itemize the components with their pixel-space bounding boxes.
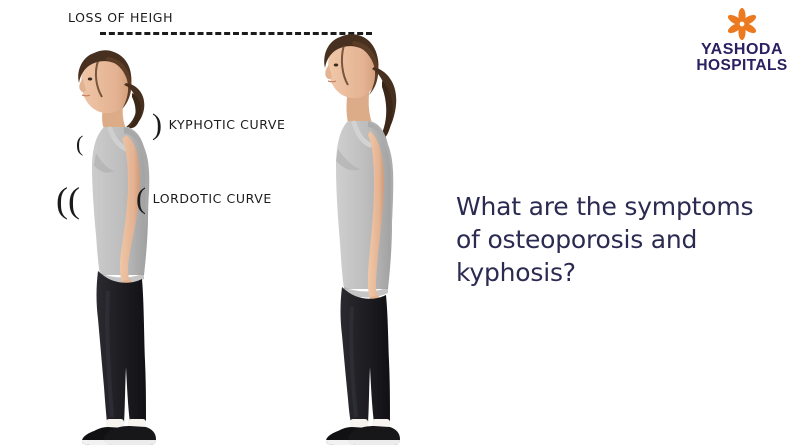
spine-marker-upper-icon: ( bbox=[76, 136, 83, 151]
kyphotic-curve-label: KYPHOTIC CURVE bbox=[169, 117, 286, 132]
lordotic-bracket-icon: ( bbox=[136, 188, 147, 209]
loss-of-height-label: LOSS OF HEIGH bbox=[68, 10, 173, 25]
brand-logo: YASHODA HOSPITALS bbox=[688, 8, 796, 74]
kyphotic-bracket-icon: ) bbox=[152, 114, 163, 135]
headline-line-1: What are the symptoms bbox=[456, 190, 786, 223]
headline-line-2: of osteoporosis and bbox=[456, 223, 786, 256]
logo-line-2: HOSPITALS bbox=[696, 58, 787, 74]
headline-line-3: kyphosis? bbox=[456, 256, 786, 289]
kyphotic-curve-annotation: ) KYPHOTIC CURVE bbox=[152, 114, 286, 135]
kyphotic-posture-figure bbox=[52, 35, 212, 445]
lordotic-curve-annotation: ( LORDOTIC CURVE bbox=[136, 188, 272, 209]
flower-starburst-icon bbox=[722, 8, 762, 40]
normal-posture-figure bbox=[300, 27, 460, 445]
spine-marker-lower-icon: (( bbox=[56, 188, 80, 213]
poster-canvas: YASHODA HOSPITALS LOSS OF HEIGH bbox=[0, 0, 800, 445]
headline-question: What are the symptoms of osteoporosis an… bbox=[456, 190, 786, 289]
logo-wordmark: YASHODA HOSPITALS bbox=[696, 42, 787, 74]
logo-line-1: YASHODA bbox=[696, 42, 787, 58]
lordotic-curve-label: LORDOTIC CURVE bbox=[153, 191, 272, 206]
